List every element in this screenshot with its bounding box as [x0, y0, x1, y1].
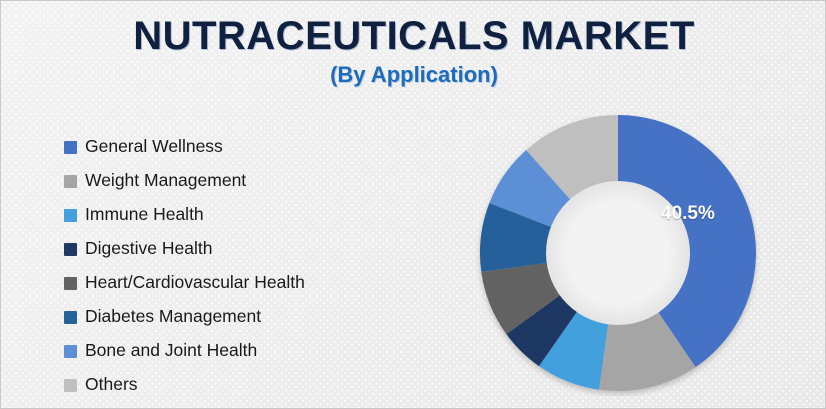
legend-item-label: Others [85, 376, 138, 394]
donut-chart-svg [475, 110, 761, 396]
legend-item[interactable]: General Wellness [64, 130, 394, 164]
donut-hole [546, 181, 690, 325]
page-title: NUTRACEUTICALS MARKET [1, 15, 826, 57]
legend-item[interactable]: Bone and Joint Health [64, 334, 394, 368]
legend-item[interactable]: Immune Health [64, 198, 394, 232]
legend-item[interactable]: Weight Management [64, 164, 394, 198]
chart-legend: General WellnessWeight ManagementImmune … [64, 130, 394, 402]
legend-item-label: General Wellness [85, 138, 223, 156]
legend-item-label: Weight Management [85, 172, 246, 190]
legend-swatch-icon [64, 175, 77, 188]
legend-item-label: Bone and Joint Health [85, 342, 257, 360]
legend-item-label: Immune Health [85, 206, 204, 224]
legend-swatch-icon [64, 277, 77, 290]
donut-chart: 40.5% [475, 110, 761, 396]
legend-swatch-icon [64, 243, 77, 256]
legend-item[interactable]: Diabetes Management [64, 300, 394, 334]
chart-subtitle: (By Application) [1, 62, 826, 88]
legend-swatch-icon [64, 311, 77, 324]
legend-swatch-icon [64, 141, 77, 154]
legend-item[interactable]: Others [64, 368, 394, 402]
title-block: NUTRACEUTICALS MARKET (By Application) [1, 15, 826, 88]
legend-swatch-icon [64, 379, 77, 392]
legend-swatch-icon [64, 209, 77, 222]
legend-swatch-icon [64, 345, 77, 358]
legend-item-label: Heart/Cardiovascular Health [85, 274, 305, 292]
legend-item-label: Diabetes Management [85, 308, 261, 326]
chart-card: NUTRACEUTICALS MARKET (By Application) G… [0, 0, 826, 409]
legend-item[interactable]: Digestive Health [64, 232, 394, 266]
legend-item[interactable]: Heart/Cardiovascular Health [64, 266, 394, 300]
legend-item-label: Digestive Health [85, 240, 212, 258]
